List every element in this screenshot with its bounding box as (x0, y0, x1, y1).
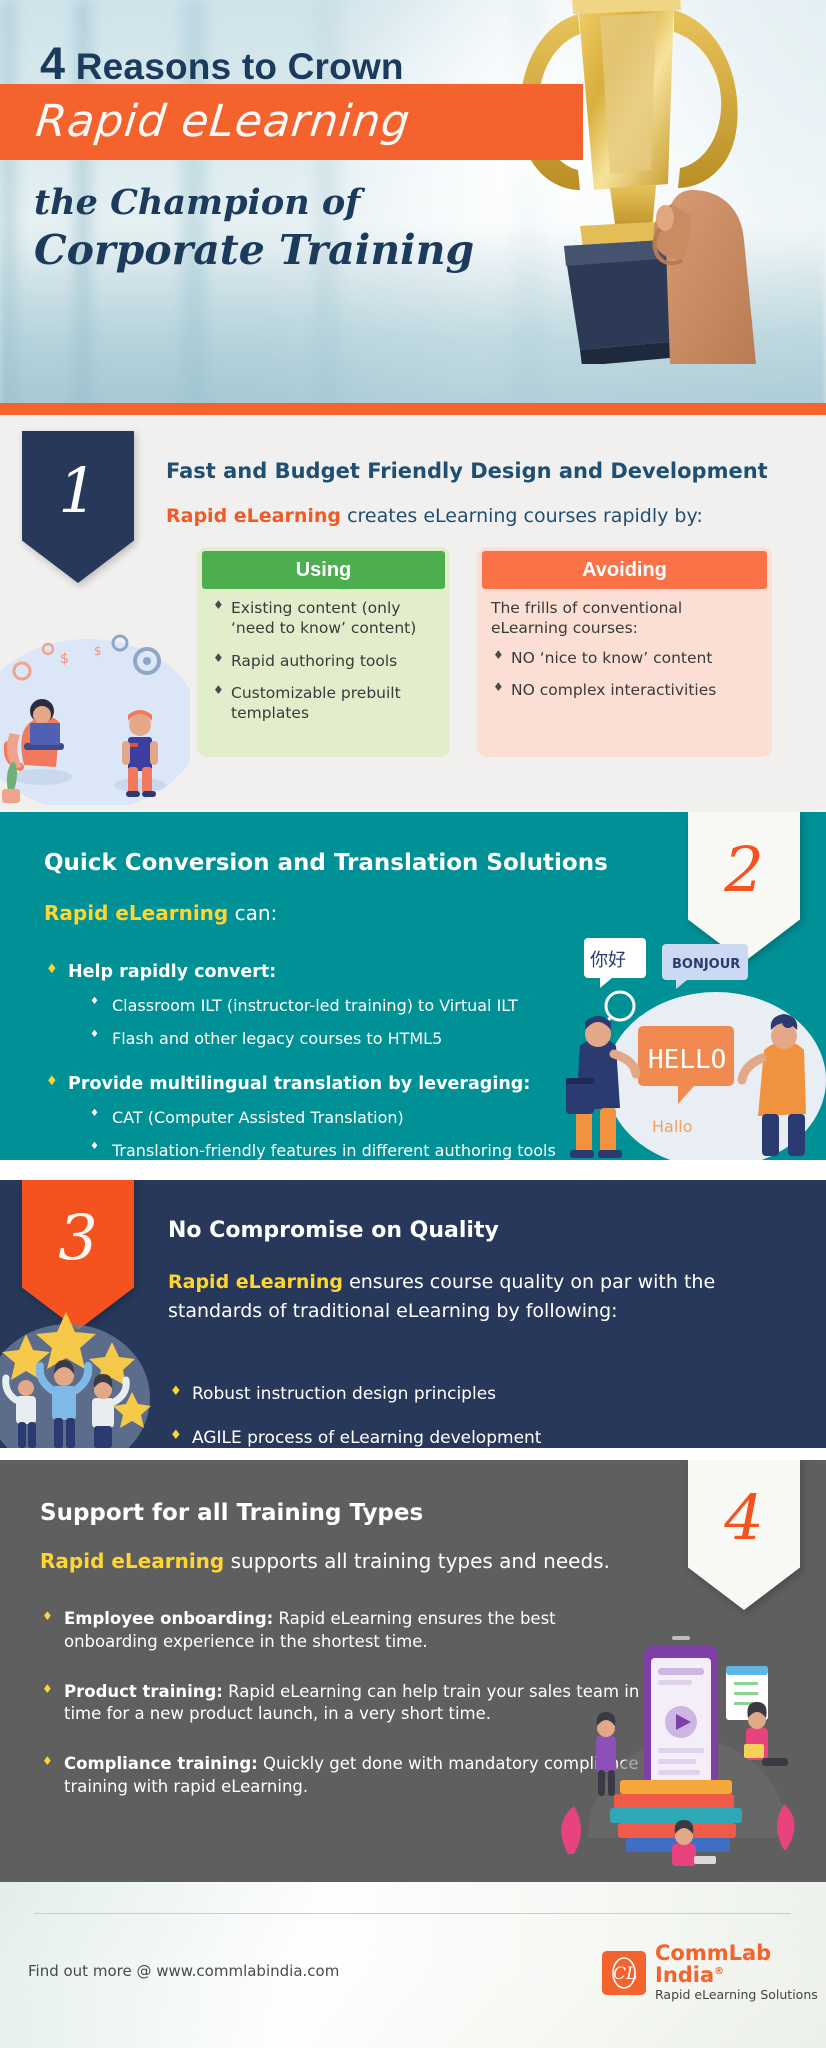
bubble-text-nihao: 你好 (590, 950, 626, 971)
commlab-logo[interactable]: CL CommLab India® Rapid eLearning Soluti… (602, 1942, 826, 2004)
avoiding-card: Avoiding The frills of conventional eLea… (477, 547, 772, 757)
commlab-logo-name-text: CommLab India (655, 1941, 771, 1987)
bubble-text-hello: HELLO (648, 1045, 726, 1075)
commlab-logo-text: CommLab India® Rapid eLearning Solutions (655, 1942, 826, 2004)
list-item: Rapid authoring tools (211, 652, 434, 672)
footer-divider (34, 1913, 791, 1914)
bubble-text-hallo: Hallo (652, 1117, 693, 1136)
list-item-label: Employee onboarding: (64, 1609, 273, 1628)
badge-number-2: 2 (688, 812, 800, 928)
section-3-heading: No Compromise on Quality (168, 1218, 499, 1243)
section-1-subtext: creates eLearning courses rapidly by: (341, 505, 703, 527)
avoiding-card-list: NO ‘nice to know’ content NO complex int… (491, 649, 756, 702)
section-2-highlight: Rapid eLearning (44, 901, 228, 925)
section-4-subtext: supports all training types and needs. (224, 1549, 610, 1573)
bubble-text-bonjour: BONJOUR (672, 957, 740, 972)
section-2-heading: Quick Conversion and Translation Solutio… (44, 850, 608, 876)
hero-headline-line1: 4 Reasons to Crown (40, 38, 404, 90)
using-card-list: Existing content (only ‘need to know’ co… (211, 599, 434, 724)
hero-orange-divider (0, 403, 826, 415)
avoiding-card-body: The frills of conventional eLearning cou… (477, 585, 772, 726)
commlab-logo-name: CommLab India® (655, 1942, 826, 1986)
list-item: Customizable prebuilt templates (211, 684, 434, 724)
commlab-logo-mark-icon: CL (602, 1951, 646, 1995)
list-item: NO ‘nice to know’ content (491, 649, 756, 669)
hero-headline-line3: the Champion of (34, 182, 360, 223)
section-3: 3 No Compromise on Quality Rapid eLearni… (0, 1180, 826, 1448)
list-item-label: Compliance training: (64, 1754, 258, 1773)
list-item: NO complex interactivities (491, 681, 756, 701)
list-item: Existing content (only ‘need to know’ co… (211, 599, 434, 639)
section-2: 2 Quick Conversion and Translation Solut… (0, 812, 826, 1160)
section-2-subheading: Rapid eLearning can: (44, 901, 277, 925)
badge-number-1: 1 (22, 431, 134, 549)
commlab-logo-registered-mark: ® (714, 1966, 724, 1977)
badge-number-4: 4 (688, 1460, 800, 1576)
people-speech-bubbles-illustration: 你好 BONJOUR HELLO Hallo (566, 930, 826, 1160)
hero-banner: 4 Reasons to Crown Rapid eLearning the C… (0, 0, 826, 415)
hero-headline-line1-text: Reasons to Crown (76, 46, 404, 87)
hero-band-title: Rapid eLearning (33, 96, 413, 147)
list-item-label: Product training: (64, 1682, 223, 1701)
using-card: Using Existing content (only ‘need to kn… (197, 547, 450, 757)
section-3-highlight: Rapid eLearning (168, 1271, 343, 1293)
svg-text:$: $ (94, 644, 102, 658)
section-4-badge: 4 (688, 1460, 800, 1610)
section-3-subheading: Rapid eLearning ensures course quality o… (168, 1268, 778, 1327)
svg-text:$: $ (60, 651, 69, 667)
section-1: 1 Fast and Budget Friendly Design and De… (0, 415, 826, 812)
section-4: 4 Support for all Training Types Rapid e… (0, 1460, 826, 1882)
section-1-subheading: Rapid eLearning creates eLearning course… (166, 505, 703, 527)
mobile-learning-books-illustration (548, 1618, 808, 1868)
hero-headline-line4: Corporate Training (34, 226, 474, 274)
section-4-highlight: Rapid eLearning (40, 1549, 224, 1573)
infographic-root: 4 Reasons to Crown Rapid eLearning the C… (0, 0, 826, 2048)
section-2-subtext: can: (228, 901, 277, 925)
trophy-icon (460, 0, 780, 364)
section-3-list: Robust instruction design principles AGI… (168, 1360, 768, 1448)
footer: Find out more @ www.commlabindia.com CL … (0, 1882, 826, 2048)
person-at-desk-with-gears-illustration: $ $ (0, 615, 190, 805)
commlab-logo-tagline: Rapid eLearning Solutions (655, 1986, 826, 2004)
hero-number-4: 4 (40, 38, 65, 89)
svg-text:CL: CL (613, 1964, 637, 1984)
avoiding-card-title: Avoiding (482, 551, 767, 589)
section-1-highlight: Rapid eLearning (166, 505, 341, 527)
avoiding-card-lead: The frills of conventional eLearning cou… (491, 599, 756, 639)
section-4-subheading: Rapid eLearning supports all training ty… (40, 1549, 610, 1573)
list-item: AGILE process of eLearning development (168, 1428, 768, 1448)
using-card-title: Using (202, 551, 445, 589)
section-4-heading: Support for all Training Types (40, 1500, 423, 1526)
section-1-badge: 1 (22, 431, 134, 583)
section-1-heading: Fast and Budget Friendly Design and Deve… (166, 459, 768, 483)
footer-find-out-more[interactable]: Find out more @ www.commlabindia.com (28, 1962, 339, 1980)
people-with-stars-illustration (0, 1278, 160, 1448)
list-item: Robust instruction design principles (168, 1384, 768, 1404)
using-card-body: Existing content (only ‘need to know’ co… (197, 585, 450, 749)
